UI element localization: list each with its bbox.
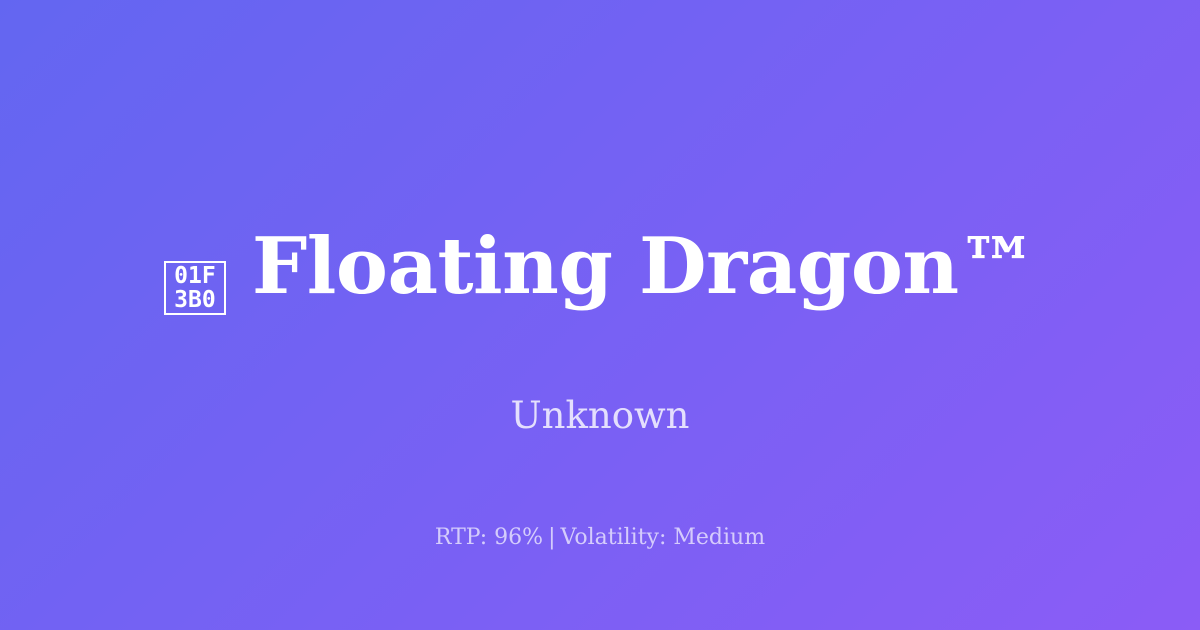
rtp-value: RTP: 96% — [435, 525, 543, 550]
slot-machine-icon-codepoint-low: 3B0 — [174, 288, 216, 312]
game-meta-line: RTP: 96%|Volatility: Medium — [0, 527, 1200, 549]
game-title: Floating Dragon™ — [252, 228, 1036, 306]
slot-machine-icon-codepoint-high: 01F — [174, 264, 216, 288]
hero-block: 01F 3B0 Floating Dragon™ Unknown — [0, 228, 1200, 434]
meta-separator: | — [543, 525, 560, 550]
volatility-value: Volatility: Medium — [561, 525, 766, 550]
slot-machine-icon: 01F 3B0 — [164, 261, 226, 315]
game-provider-subtitle: Unknown — [510, 325, 689, 434]
title-row: 01F 3B0 Floating Dragon™ — [164, 228, 1036, 325]
og-share-card: 01F 3B0 Floating Dragon™ Unknown RTP: 96… — [0, 0, 1200, 630]
